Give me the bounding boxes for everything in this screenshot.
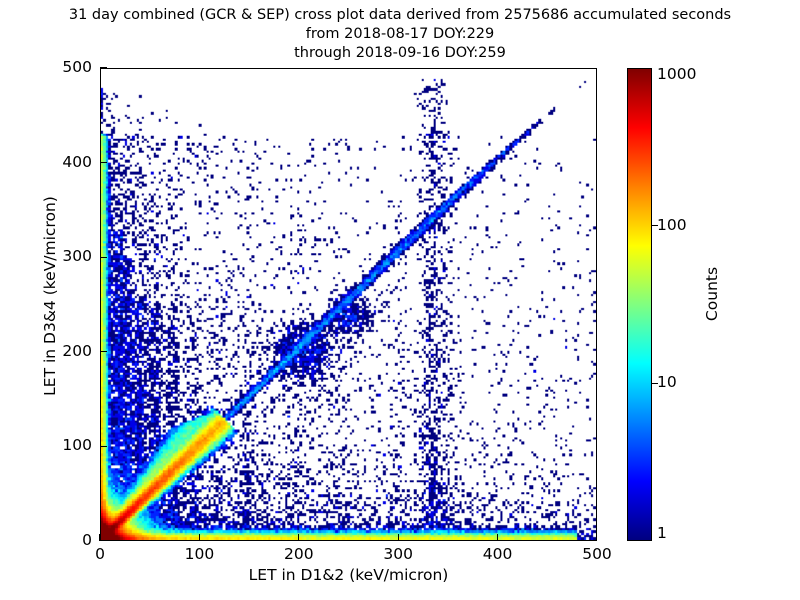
y-tick-400 (100, 162, 107, 163)
colorbar-ticklabel-100: 100 (657, 216, 687, 234)
colorbar-label: Counts (703, 194, 721, 394)
x-tick-400 (497, 534, 498, 541)
colorbar (627, 68, 652, 541)
colorbar-ticklabel-10: 10 (657, 373, 677, 391)
x-tick-200 (298, 534, 299, 541)
title-line-1: 31 day combined (GCR & SEP) cross plot d… (0, 6, 800, 25)
density-scatter-canvas (101, 69, 596, 540)
colorbar-ticklabel-1: 1 (657, 524, 667, 542)
colorbar-gradient (627, 68, 652, 541)
x-tick-0 (99, 534, 100, 541)
y-tick-200 (100, 351, 107, 352)
x-tick-300 (398, 534, 399, 541)
colorbar-ticklabel-1000: 1000 (657, 65, 696, 83)
plot-area (100, 68, 597, 541)
y-tick-300 (100, 257, 107, 258)
x-ticklabel-500: 500 (557, 545, 637, 563)
title-line-3: through 2018-09-16 DOY:259 (0, 44, 800, 63)
x-tick-100 (199, 534, 200, 541)
chart-page: 31 day combined (GCR & SEP) cross plot d… (0, 0, 800, 600)
x-tick-500 (596, 534, 597, 541)
chart-title: 31 day combined (GCR & SEP) cross plot d… (0, 6, 800, 63)
x-ticklabel-200: 200 (259, 545, 339, 563)
y-axis-label: LET in D3&4 (keV/micron) (41, 96, 59, 496)
y-tick-0 (100, 540, 107, 541)
y-tick-100 (100, 446, 107, 447)
x-ticklabel-300: 300 (358, 545, 438, 563)
title-line-2: from 2018-08-17 DOY:229 (0, 25, 800, 44)
x-ticklabel-400: 400 (458, 545, 538, 563)
x-ticklabel-0: 0 (60, 545, 140, 563)
x-axis-label: LET in D1&2 (keV/micron) (100, 566, 597, 584)
y-tick-500 (100, 67, 107, 68)
x-ticklabel-100: 100 (159, 545, 239, 563)
y-ticklabel-500: 500 (6, 58, 92, 76)
